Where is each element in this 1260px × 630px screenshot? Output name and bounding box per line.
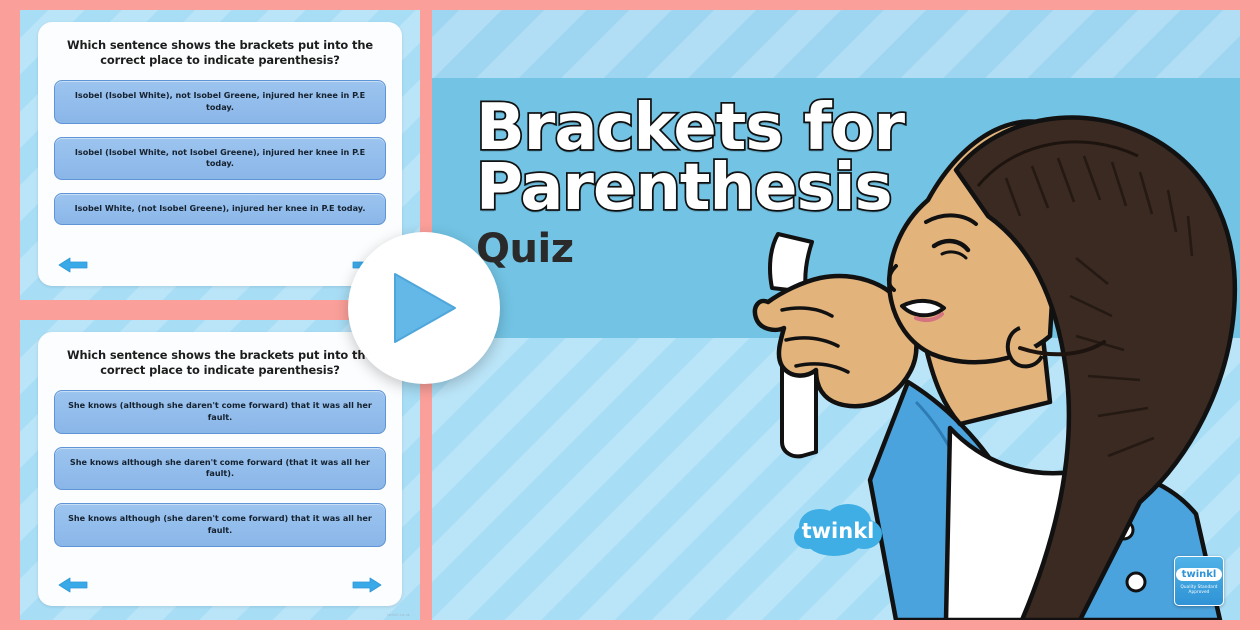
twinkl-cloud-logo-icon: twinkl bbox=[790, 502, 886, 560]
answer-option[interactable]: Isobel (Isobel White), not Isobel Greene… bbox=[54, 80, 386, 123]
play-button[interactable] bbox=[348, 232, 500, 384]
answer-option[interactable]: Isobel (Isobel White, not Isobel Greene)… bbox=[54, 137, 386, 180]
slide-thumbnail-2[interactable]: Which sentence shows the brackets put in… bbox=[20, 320, 420, 620]
question-text: Which sentence shows the brackets put in… bbox=[54, 346, 386, 378]
play-triangle-icon bbox=[389, 270, 459, 346]
forward-arrow-icon[interactable] bbox=[352, 576, 382, 594]
slide-thumbnail-1[interactable]: Which sentence shows the brackets put in… bbox=[20, 10, 420, 300]
slide-navigation bbox=[54, 570, 386, 596]
badge-line-2: Approved bbox=[1176, 589, 1222, 594]
title-slide-panel[interactable]: Brackets for Parenthesis Quiz twinkl bbox=[432, 10, 1240, 620]
back-arrow-icon[interactable] bbox=[58, 256, 88, 274]
slide-navigation bbox=[54, 250, 386, 276]
footer-credit: twinkl.co.uk bbox=[387, 613, 410, 617]
answer-options: Isobel (Isobel White), not Isobel Greene… bbox=[54, 80, 386, 225]
slide-card: Which sentence shows the brackets put in… bbox=[38, 332, 402, 606]
quality-standard-badge: twinkl Quality Standard Approved bbox=[1174, 556, 1224, 606]
badge-brand-label: twinkl bbox=[1176, 568, 1223, 581]
question-text: Which sentence shows the brackets put in… bbox=[54, 36, 386, 68]
slide-card: Which sentence shows the brackets put in… bbox=[38, 22, 402, 286]
answer-option[interactable]: She knows although she daren't come forw… bbox=[54, 447, 386, 490]
svg-text:twinkl: twinkl bbox=[802, 519, 875, 543]
answer-options: She knows (although she daren't come for… bbox=[54, 390, 386, 546]
answer-option[interactable]: Isobel White, (not Isobel Greene), injur… bbox=[54, 193, 386, 225]
back-arrow-icon[interactable] bbox=[58, 576, 88, 594]
answer-option[interactable]: She knows (although she daren't come for… bbox=[54, 390, 386, 433]
answer-option[interactable]: She knows although (she daren't come for… bbox=[54, 503, 386, 546]
